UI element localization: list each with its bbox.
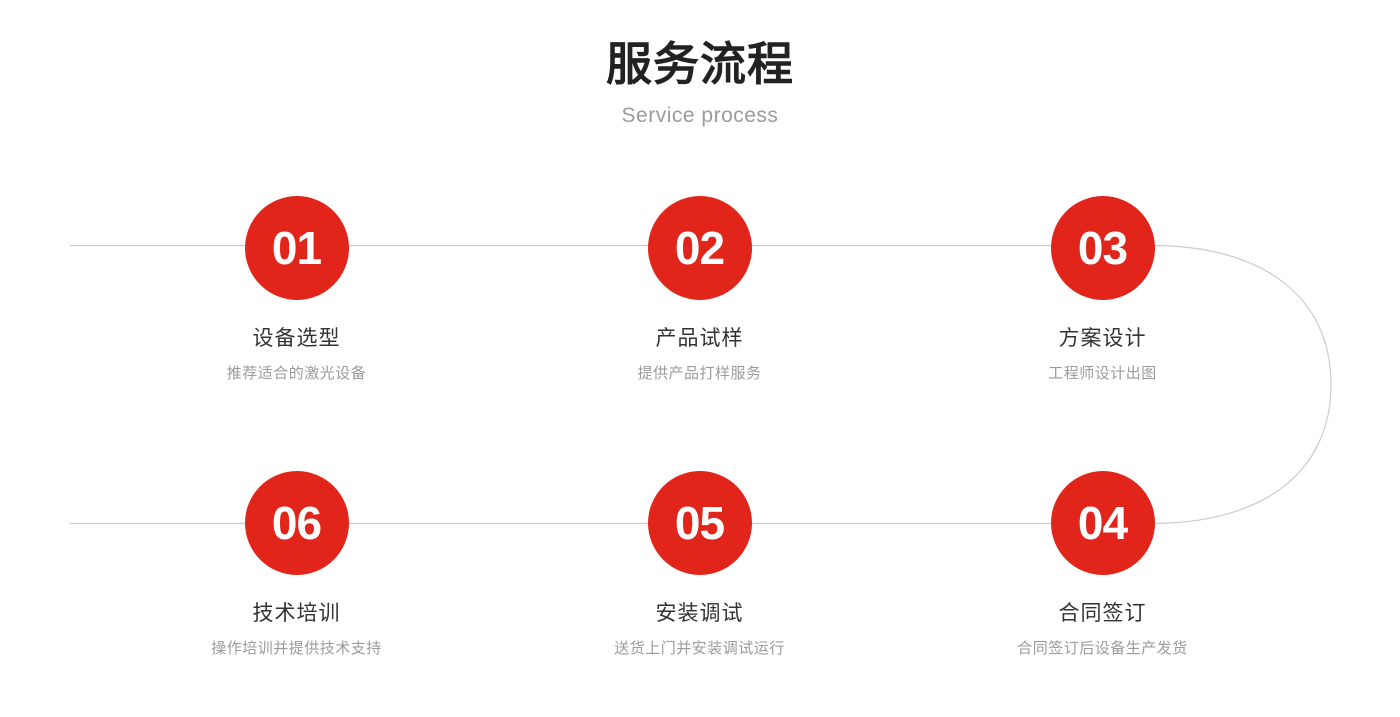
page-title: 服务流程: [0, 0, 1400, 92]
step-description: 操作培训并提供技术支持: [211, 639, 382, 659]
flow-step-03[interactable]: 03 方案设计 工程师设计出图: [901, 196, 1304, 384]
step-number-badge: 01: [245, 196, 349, 300]
step-description: 提供产品打样服务: [637, 364, 761, 384]
flow-step-02[interactable]: 02 产品试样 提供产品打样服务: [498, 196, 901, 384]
service-process-section: 服务流程 Service process 01 设备选型 推荐适合的激光设备 0…: [0, 0, 1400, 717]
flow-step-04[interactable]: 04 合同签订 合同签订后设备生产发货: [901, 471, 1304, 659]
step-description: 合同签订后设备生产发货: [1017, 639, 1188, 659]
step-number-badge: 03: [1051, 196, 1155, 300]
step-title: 合同签订: [1059, 601, 1147, 627]
step-title: 方案设计: [1059, 326, 1147, 352]
step-description: 推荐适合的激光设备: [227, 364, 367, 384]
step-description: 送货上门并安装调试运行: [614, 639, 785, 659]
flow-step-01[interactable]: 01 设备选型 推荐适合的激光设备: [95, 196, 498, 384]
flow-step-05[interactable]: 05 安装调试 送货上门并安装调试运行: [498, 471, 901, 659]
flow-row-bottom: 06 技术培训 操作培训并提供技术支持 05 安装调试 送货上门并安装调试运行 …: [0, 471, 1400, 659]
section-header: 服务流程 Service process: [0, 0, 1400, 130]
flow-row-top: 01 设备选型 推荐适合的激光设备 02 产品试样 提供产品打样服务 03 方案…: [0, 196, 1400, 384]
step-title: 技术培训: [253, 601, 341, 627]
step-title: 产品试样: [656, 326, 744, 352]
step-title: 设备选型: [253, 326, 341, 352]
step-number-badge: 05: [648, 471, 752, 575]
step-title: 安装调试: [656, 601, 744, 627]
step-number-badge: 04: [1051, 471, 1155, 575]
step-number-badge: 06: [245, 471, 349, 575]
step-number-badge: 02: [648, 196, 752, 300]
page-subtitle: Service process: [0, 92, 1400, 130]
flow-step-06[interactable]: 06 技术培训 操作培训并提供技术支持: [95, 471, 498, 659]
step-description: 工程师设计出图: [1048, 364, 1157, 384]
